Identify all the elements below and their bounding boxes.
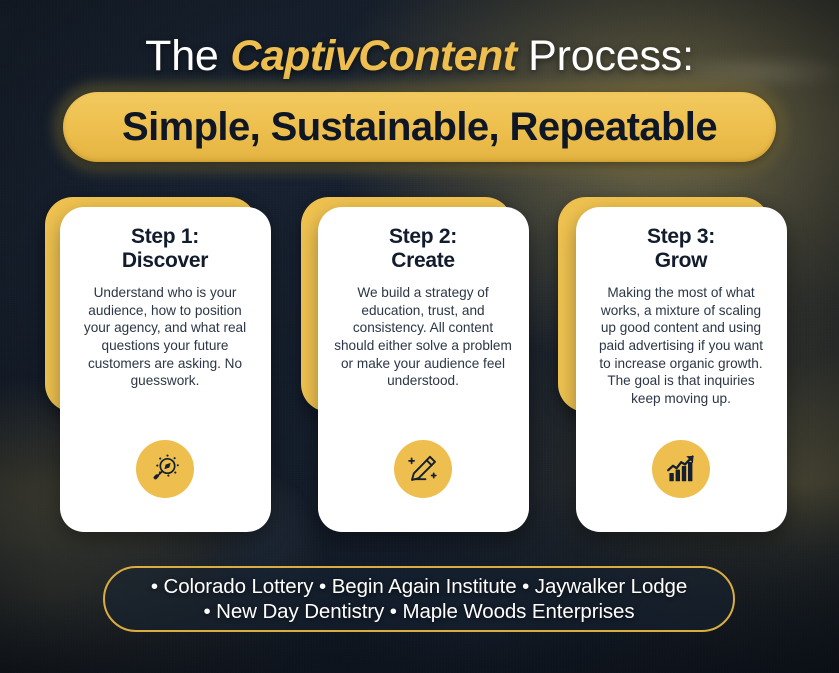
client-list-text: • Colorado Lottery • Begin Again Institu… [151, 574, 687, 625]
client-list-pill: • Colorado Lottery • Begin Again Institu… [103, 566, 735, 632]
card-surface: Step 3: Grow Making the most of what wor… [576, 207, 787, 532]
card-title: Step 3: Grow [647, 225, 715, 272]
page-title: The CaptivContent Process: [0, 35, 839, 79]
growth-chart-icon [652, 440, 710, 498]
steps-row: Step 1: Discover Understand who is your … [0, 197, 839, 532]
brand-name: CaptivContent [230, 32, 516, 80]
step-card-3[interactable]: Step 3: Grow Making the most of what wor… [568, 197, 788, 532]
card-title: Step 1: Discover [122, 225, 208, 272]
step-card-1[interactable]: Step 1: Discover Understand who is your … [52, 197, 272, 532]
card-title: Step 2: Create [389, 225, 457, 272]
step-card-2[interactable]: Step 2: Create We build a strategy of ed… [310, 197, 530, 532]
subtitle-banner: Simple, Sustainable, Repeatable [63, 92, 776, 162]
card-body: Making the most of what works, a mixture… [589, 284, 774, 408]
pencil-sparkle-icon [394, 440, 452, 498]
title-suffix: Process: [516, 32, 693, 80]
title-prefix: The [145, 32, 230, 80]
card-body: We build a strategy of education, trust,… [331, 284, 516, 390]
card-body: Understand who is your audience, how to … [73, 284, 258, 390]
card-surface: Step 1: Discover Understand who is your … [60, 207, 271, 532]
card-surface: Step 2: Create We build a strategy of ed… [318, 207, 529, 532]
banner-pill: Simple, Sustainable, Repeatable [63, 92, 776, 162]
infographic-slide: The CaptivContent Process: Simple, Susta… [0, 0, 839, 673]
banner-text: Simple, Sustainable, Repeatable [122, 107, 717, 147]
magnifier-compass-icon [136, 440, 194, 498]
